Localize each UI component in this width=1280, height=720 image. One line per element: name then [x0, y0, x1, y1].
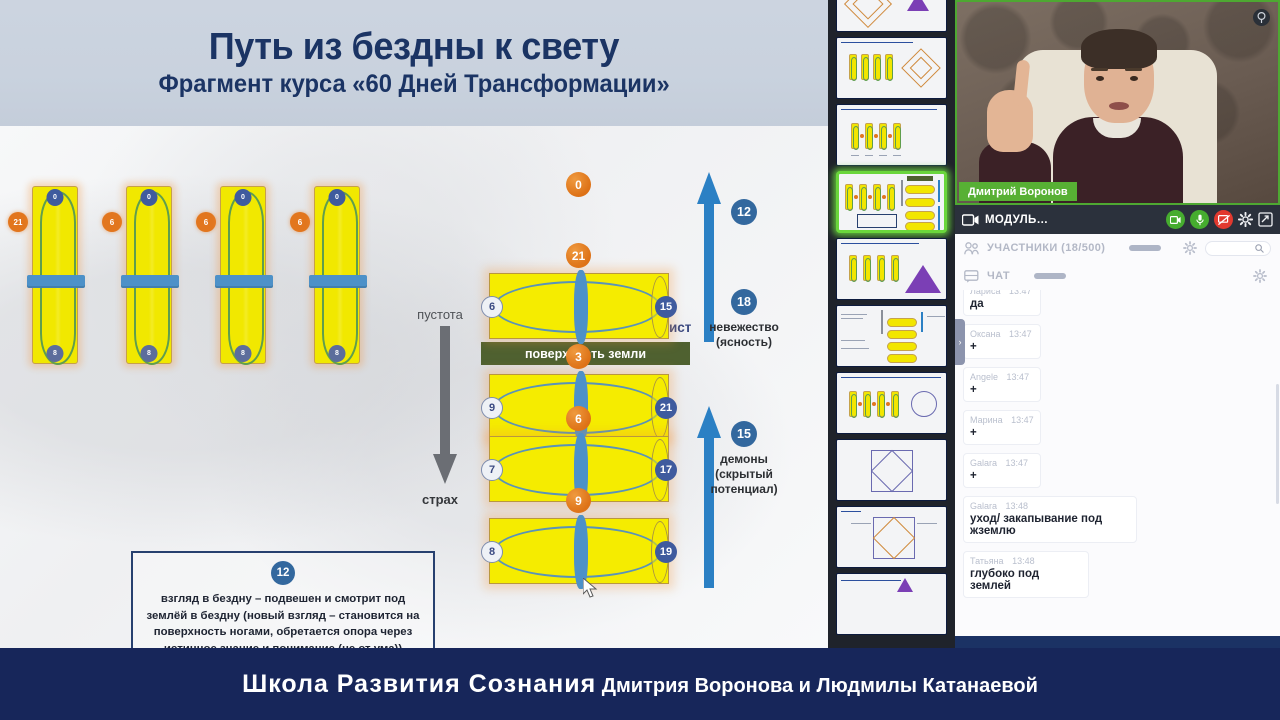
center-dot: 6 — [566, 406, 591, 431]
chat-text: + — [970, 384, 1034, 396]
text-line — [841, 318, 863, 319]
mini-capsule — [863, 255, 871, 281]
vertical-dot: 6 — [290, 212, 310, 232]
text-line — [841, 377, 941, 378]
chat-message-head: Оксана 13:47 — [970, 329, 1034, 339]
mini-capsule-h — [905, 222, 935, 230]
chat-text: глубоко под землей — [970, 568, 1082, 592]
capsule-top-node: 0 — [235, 189, 252, 206]
mini-capsule — [893, 123, 901, 149]
mini-capsule — [873, 184, 881, 210]
capsule-right-node: 17 — [655, 459, 677, 481]
people-icon — [964, 242, 980, 255]
mini-capsule — [887, 184, 895, 210]
chat-message: Татьяна 13:48 глубоко под землей — [963, 551, 1089, 598]
horizontal-capsule: 8 19 — [489, 518, 669, 584]
video-camera-icon — [962, 214, 979, 226]
bottom-banner: Школа Развития Сознания Дмитрия Воронова… — [0, 648, 1280, 720]
mini-capsule — [851, 123, 859, 149]
vertical-dot: 21 — [8, 212, 28, 232]
descending-arrow-icon — [432, 326, 458, 486]
chat-time: 13:47 — [1011, 415, 1034, 425]
chat-text: уход/ закапывание под жземлю — [970, 513, 1130, 537]
text-line — [893, 155, 901, 156]
center-dot: 9 — [566, 488, 591, 513]
chat-message: Angele 13:47 + — [963, 367, 1041, 402]
capsule-bottom-node: 8 — [47, 345, 64, 362]
chat-message-list[interactable]: Лариса 13:47 да Оксана 13:47 + Angele 13… — [955, 290, 1280, 635]
mini-capsule-h — [887, 354, 917, 363]
mini-arrow — [921, 312, 923, 332]
presentation-slide: Путь из бездны к свету Фрагмент курса «6… — [0, 0, 828, 648]
chat-message-head: Марина 13:47 — [970, 415, 1034, 425]
chat-author: Galara — [970, 501, 997, 511]
text-line — [841, 109, 937, 110]
vertical-capsule: 0 8 — [314, 186, 360, 364]
video-camera-on-icon — [1170, 216, 1181, 224]
mini-dot — [868, 195, 872, 199]
text-line — [927, 316, 945, 317]
thumbnail-preview — [837, 574, 946, 634]
triangle-shape-icon — [897, 578, 913, 592]
collapse-handle[interactable] — [1129, 245, 1161, 251]
thumbnail-preview — [837, 0, 946, 31]
chat-time: 13:47 — [1007, 372, 1030, 382]
panel-bottom-strip — [955, 636, 1280, 648]
mini-capsule — [877, 255, 885, 281]
microphone-on-button[interactable] — [1190, 210, 1209, 229]
mini-dot — [854, 195, 858, 199]
thumbnail-preview — [837, 105, 946, 165]
mini-capsule — [885, 54, 893, 80]
void-label: пустота — [395, 307, 485, 322]
mouth-shape — [1109, 102, 1129, 110]
thumbnail-item[interactable] — [836, 439, 947, 501]
mini-capsule — [849, 54, 857, 80]
participants-row[interactable]: УЧАСТНИКИ (18/500) — [955, 234, 1280, 262]
chat-time: 13:47 — [1009, 290, 1032, 296]
thumbnail-preview — [837, 306, 946, 366]
pin-glyph-icon — [1257, 12, 1266, 23]
mini-arrow — [901, 180, 903, 206]
thumbnail-item[interactable] — [836, 37, 947, 99]
text-line — [841, 243, 919, 244]
eye-shape — [1096, 76, 1104, 81]
chat-message: Оксана 13:47 + — [963, 324, 1041, 359]
participants-label: УЧАСТНИКИ (18/500) — [987, 242, 1105, 254]
text-line — [917, 523, 937, 524]
capsule-band — [309, 275, 367, 288]
side-panels[interactable]: УЧАСТНИКИ (18/500) — [955, 234, 1280, 648]
right-label-15-line3: потенциал) — [690, 482, 798, 497]
participant-name-tag: Дмитрий Воронов — [959, 182, 1077, 201]
mini-dot — [872, 402, 876, 406]
slide-canvas: 21 0 8 6 0 8 6 0 8 6 — [0, 126, 828, 648]
mini-capsule — [849, 255, 857, 281]
chat-text: + — [970, 427, 1034, 439]
right-label-18: невежество (ясность) — [690, 320, 798, 350]
thumbnail-item[interactable] — [836, 573, 947, 635]
capsule-top-node: 0 — [329, 189, 346, 206]
note-badge: 12 — [271, 561, 295, 585]
microphone-on-icon — [1196, 214, 1204, 226]
webcam-video-panel[interactable]: Дмитрий Воронов — [955, 0, 1280, 205]
mini-capsule — [859, 184, 867, 210]
chat-time: 13:48 — [1012, 556, 1035, 566]
chat-author: Марина — [970, 415, 1003, 425]
mini-capsule-h — [905, 211, 935, 220]
chat-row[interactable]: ЧАТ — [955, 262, 1280, 290]
right-label-15-line2: (скрытый — [690, 467, 798, 482]
ascending-arrow-icon — [696, 172, 722, 342]
chat-text: + — [970, 470, 1034, 482]
mini-capsule-h — [905, 185, 935, 194]
mini-capsule — [891, 255, 899, 281]
center-dot: 3 — [566, 344, 591, 369]
chat-message-head: Angele 13:47 — [970, 372, 1034, 382]
capsule-left-node: 7 — [481, 459, 503, 481]
mini-capsule — [877, 391, 885, 417]
mini-capsule-h — [887, 330, 917, 339]
capsule-left-node: 8 — [481, 541, 503, 563]
thumbnail-preview — [837, 373, 946, 433]
screen-share-off-icon — [1218, 215, 1230, 225]
chat-time: 13:47 — [1009, 329, 1032, 339]
mini-dot — [874, 134, 878, 138]
slide-title: Путь из бездны к свету — [209, 28, 619, 68]
gear-icon[interactable] — [1253, 269, 1267, 283]
expand-icon[interactable] — [1258, 212, 1273, 227]
mini-arrow — [938, 206, 940, 230]
text-line — [879, 155, 887, 156]
chat-time: 13:48 — [1006, 501, 1029, 511]
conference-toolbar[interactable]: МОДУЛЬ… — [955, 205, 1280, 234]
capsule-top-node: 0 — [141, 189, 158, 206]
eye-shape — [1130, 76, 1138, 81]
clean-sheet-badge: 0 — [566, 172, 591, 197]
chat-icon — [964, 270, 980, 283]
slide-subtitle: Фрагмент курса «60 Дней Трансформации» — [158, 71, 669, 97]
mini-capsule — [891, 391, 899, 417]
capsule-top-node: 0 — [47, 189, 64, 206]
chat-author: Лариса — [970, 290, 1000, 296]
mini-capsule — [863, 391, 871, 417]
text-line — [841, 580, 901, 581]
thumbnail-preview — [837, 507, 946, 567]
center-dot: 21 — [566, 243, 591, 268]
gear-icon[interactable] — [1183, 241, 1197, 255]
vertical-capsule: 0 8 — [32, 186, 78, 364]
thumbnail-item-active[interactable] — [836, 171, 947, 233]
capsule-bottom-node: 8 — [141, 345, 158, 362]
mini-note-box — [857, 214, 897, 228]
capsule-band — [121, 275, 179, 288]
mini-arrow — [881, 310, 883, 334]
screen-share-off-button[interactable] — [1214, 210, 1233, 229]
text-line — [841, 511, 861, 512]
mini-capsule — [861, 54, 869, 80]
text-line — [851, 523, 871, 524]
vertical-dot: 6 — [102, 212, 122, 232]
thumbnail-preview — [837, 440, 946, 500]
right-badge-12: 12 — [731, 199, 757, 225]
vertical-capsule: 0 8 — [220, 186, 266, 364]
chat-message-head: Galara 13:47 — [970, 458, 1034, 468]
thumbnail-item[interactable] — [836, 506, 947, 568]
banner-text: Школа Развития Сознания Дмитрия Воронова… — [242, 670, 1038, 699]
slide-thumbnail-rail[interactable] — [828, 0, 955, 648]
thumbnail-preview — [837, 239, 946, 299]
thumbnail-item[interactable] — [836, 372, 947, 434]
thumbnail-item[interactable] — [836, 305, 947, 367]
right-label-18-line1: невежество — [690, 320, 798, 335]
triangle-shape-icon — [907, 0, 929, 11]
mini-dot — [888, 134, 892, 138]
chat-message: Galara 13:47 + — [963, 453, 1041, 488]
capsule-band — [27, 275, 85, 288]
capsule-bottom-node: 8 — [329, 345, 346, 362]
capsule-band — [574, 270, 588, 344]
text-line — [841, 348, 869, 349]
fear-label: страх — [395, 492, 485, 507]
text-line — [841, 314, 867, 315]
thumbnail-item[interactable] — [836, 0, 947, 32]
chat-time: 13:47 — [1006, 458, 1029, 468]
mini-dot — [886, 402, 890, 406]
chat-message: Galara 13:48 уход/ закапывание под жземл… — [963, 496, 1137, 543]
mini-capsule — [849, 391, 857, 417]
capsule-left-node: 6 — [481, 296, 503, 318]
triangle-shape-icon — [905, 265, 941, 293]
capsule-bottom-node: 8 — [235, 345, 252, 362]
video-camera-on-button[interactable] — [1166, 210, 1185, 229]
screen-root: Путь из бездны к свету Фрагмент курса «6… — [0, 0, 1280, 720]
banner-authors: Дмитрия Воронова и Людмилы Катанаевой — [596, 675, 1038, 697]
search-icon — [1255, 244, 1264, 253]
toolbar-button-group[interactable] — [1166, 210, 1273, 229]
vertical-dot: 6 — [196, 212, 216, 232]
capsule-band — [215, 275, 273, 288]
mini-capsule — [865, 123, 873, 149]
chat-message-head: Лариса 13:47 — [970, 290, 1034, 296]
toolbar-title: МОДУЛЬ… — [985, 214, 1048, 226]
capsule-left-node: 9 — [481, 397, 503, 419]
panel-expand-handle[interactable]: › — [955, 319, 965, 365]
right-label-18-line2: (ясность) — [690, 335, 798, 350]
chat-text: + — [970, 341, 1034, 353]
text-line — [865, 155, 873, 156]
mini-dot — [858, 402, 862, 406]
mini-capsule — [845, 184, 853, 210]
chat-label: ЧАТ — [987, 270, 1010, 282]
text-line — [851, 155, 859, 156]
text-line — [841, 340, 865, 341]
text-line — [841, 42, 913, 43]
right-badge-18: 18 — [731, 289, 757, 315]
chat-author: Татьяна — [970, 556, 1004, 566]
ascending-arrow-icon — [696, 406, 722, 588]
collapse-handle[interactable] — [1034, 273, 1066, 279]
slide-title-band: Путь из бездны к свету Фрагмент курса «6… — [0, 0, 828, 126]
mini-capsule-h — [905, 198, 935, 207]
mini-capsule-h — [887, 342, 917, 351]
capsule-right-node: 15 — [655, 296, 677, 318]
capsule-right-node: 19 — [655, 541, 677, 563]
chat-message-head: Татьяна 13:48 — [970, 556, 1082, 566]
mini-capsule-h — [887, 318, 917, 327]
right-badge-15: 15 — [731, 421, 757, 447]
star-shape-icon — [911, 391, 937, 417]
horizontal-capsule: 6 15 — [489, 273, 669, 339]
thumbnail-preview — [839, 174, 944, 230]
right-label-15: демоны (скрытый потенциал) — [690, 452, 798, 497]
chat-message: Лариса 13:47 да — [963, 290, 1041, 316]
vertical-capsule: 0 8 — [126, 186, 172, 364]
capsule-right-node: 21 — [655, 397, 677, 419]
mini-arrow — [938, 180, 940, 202]
chat-author: Galara — [970, 458, 997, 468]
chat-text: да — [970, 298, 1034, 310]
right-label-15-line1: демоны — [690, 452, 798, 467]
mouse-cursor-icon — [583, 578, 599, 600]
mini-dot — [882, 195, 886, 199]
eyebrow-shape — [1091, 68, 1108, 71]
mini-capsule — [879, 123, 887, 149]
mini-capsule — [873, 54, 881, 80]
chat-scrollbar[interactable] — [1276, 384, 1279, 504]
pin-icon[interactable] — [1253, 9, 1270, 26]
chat-author: Оксана — [970, 329, 1001, 339]
eyebrow-shape — [1125, 68, 1142, 71]
hair-shape — [1081, 29, 1157, 69]
chat-message: Марина 13:47 + — [963, 410, 1041, 445]
banner-school-name: Школа Развития Сознания — [242, 670, 596, 698]
chat-author: Angele — [970, 372, 998, 382]
thumbnail-item[interactable] — [836, 238, 947, 300]
thumbnail-preview — [837, 38, 946, 98]
participant-name: Дмитрий Воронов — [968, 186, 1068, 198]
chat-message-head: Galara 13:48 — [970, 501, 1130, 511]
gear-icon[interactable] — [1238, 212, 1253, 227]
mini-dot — [860, 134, 864, 138]
search-input[interactable] — [1205, 241, 1271, 256]
thumbnail-item[interactable] — [836, 104, 947, 166]
mini-green-bar — [907, 176, 933, 181]
